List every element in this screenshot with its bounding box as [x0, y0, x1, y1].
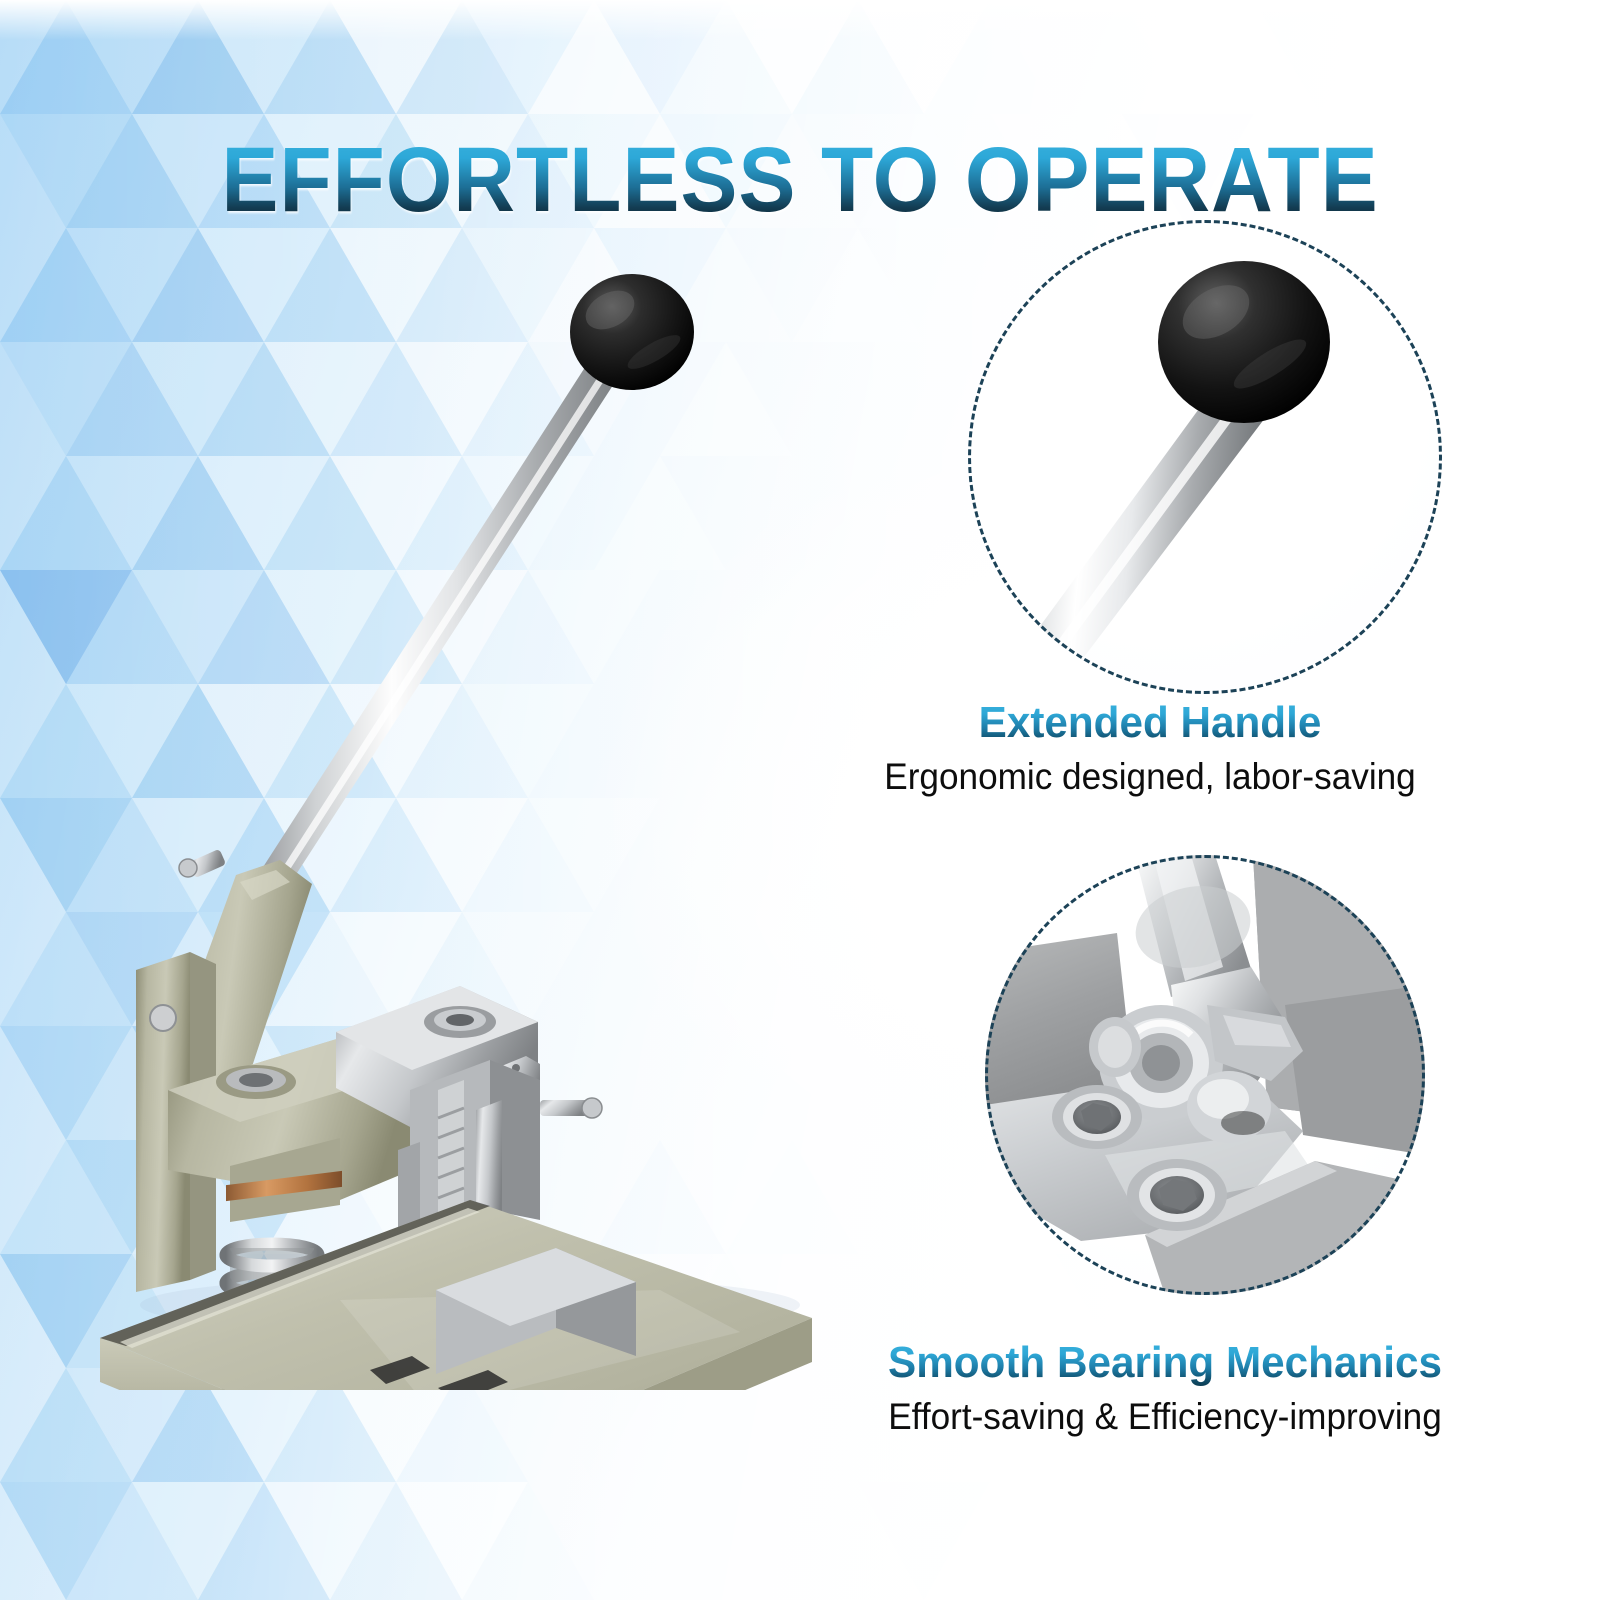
- feature-text-extended-handle: Extended Handle Ergonomic designed, labo…: [760, 700, 1540, 798]
- page-title: EFFORTLESS TO OPERATE: [56, 134, 1544, 226]
- callout-2-dashed-ring: [985, 855, 1425, 1295]
- feature-subtitle-smooth-bearing: Effort-saving & Efficiency-improving: [780, 1396, 1550, 1438]
- callout-extended-handle: [968, 220, 1442, 694]
- feature-heading-smooth-bearing: Smooth Bearing Mechanics: [776, 1340, 1554, 1386]
- feature-text-smooth-bearing: Smooth Bearing Mechanics Effort-saving &…: [760, 1340, 1570, 1438]
- callout-smooth-bearing: [985, 855, 1425, 1295]
- infographic-canvas: EFFORTLESS TO OPERATE: [0, 0, 1600, 1600]
- callout-1-dashed-ring: [968, 220, 1442, 694]
- product-image-corner-rounder: [40, 270, 860, 1390]
- feature-subtitle-extended-handle: Ergonomic designed, labor-saving: [780, 756, 1521, 798]
- extended-handle-rod: [247, 344, 628, 910]
- background-top-highlight: [0, 0, 1600, 40]
- ball-knob: [570, 274, 694, 390]
- feature-heading-extended-handle: Extended Handle: [776, 700, 1525, 746]
